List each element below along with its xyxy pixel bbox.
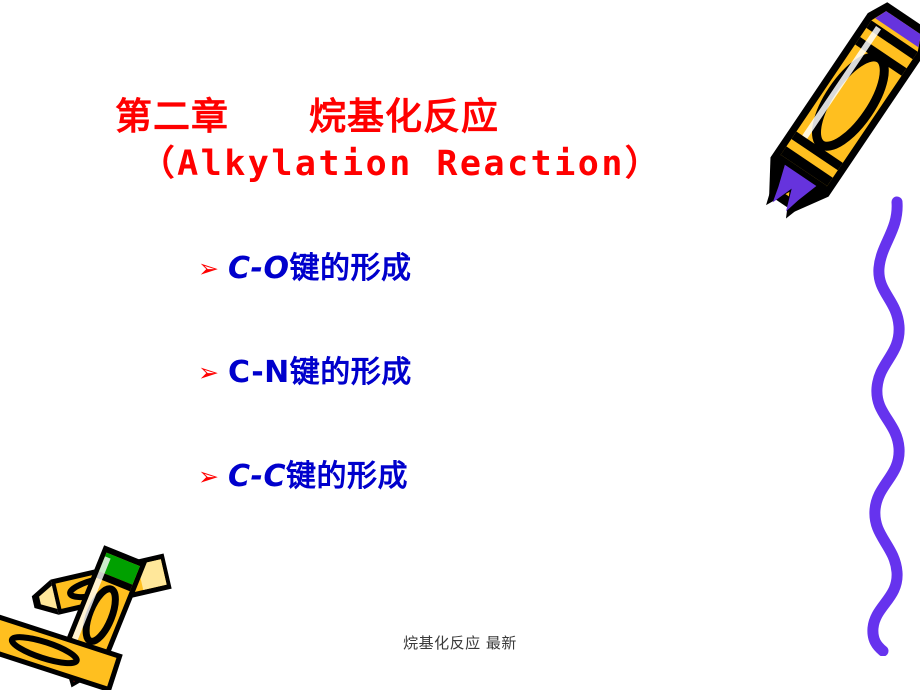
- title-line-english: （Alkylation Reaction）: [0, 140, 760, 188]
- bullet-item-c-o: C-O键的形成: [228, 250, 411, 288]
- title-chapter-label: 第二章: [115, 95, 229, 138]
- list-item[interactable]: ➢ C-N键的形成: [198, 354, 718, 458]
- arrowhead-bullet-icon: ➢: [198, 354, 228, 392]
- bullet-cjk-label: 键的形成: [290, 355, 412, 390]
- title-line-chapter: 第二章烷基化反应: [0, 94, 760, 140]
- slide-canvas: 第二章烷基化反应 （Alkylation Reaction） ➢ C-O键的形成…: [0, 0, 920, 690]
- list-item[interactable]: ➢ C-O键的形成: [198, 250, 718, 354]
- bullet-latin-label: C-N: [228, 355, 290, 390]
- bullet-latin-label: C-C: [228, 459, 286, 494]
- bullet-latin-label: C-O: [228, 251, 289, 286]
- bullet-list: ➢ C-O键的形成 ➢ C-N键的形成 ➢ C-C键的形成: [198, 250, 718, 562]
- crayons-illustration: [0, 540, 202, 690]
- slide-title-block: 第二章烷基化反应 （Alkylation Reaction）: [0, 94, 760, 188]
- list-item[interactable]: ➢ C-C键的形成: [198, 458, 718, 562]
- slide-footer: 烷基化反应 最新: [0, 632, 920, 653]
- arrowhead-bullet-icon: ➢: [198, 250, 228, 288]
- arrowhead-bullet-icon: ➢: [198, 458, 228, 496]
- title-heading-cn: 烷基化反应: [309, 95, 499, 138]
- purple-squiggle-line: [845, 196, 920, 656]
- bullet-item-c-n: C-N键的形成: [228, 354, 412, 392]
- bullet-cjk-label: 键的形成: [289, 250, 411, 288]
- bullet-cjk-label: 键的形成: [286, 458, 408, 496]
- crayon-illustration: [755, 0, 920, 234]
- bullet-item-c-c: C-C键的形成: [228, 458, 408, 496]
